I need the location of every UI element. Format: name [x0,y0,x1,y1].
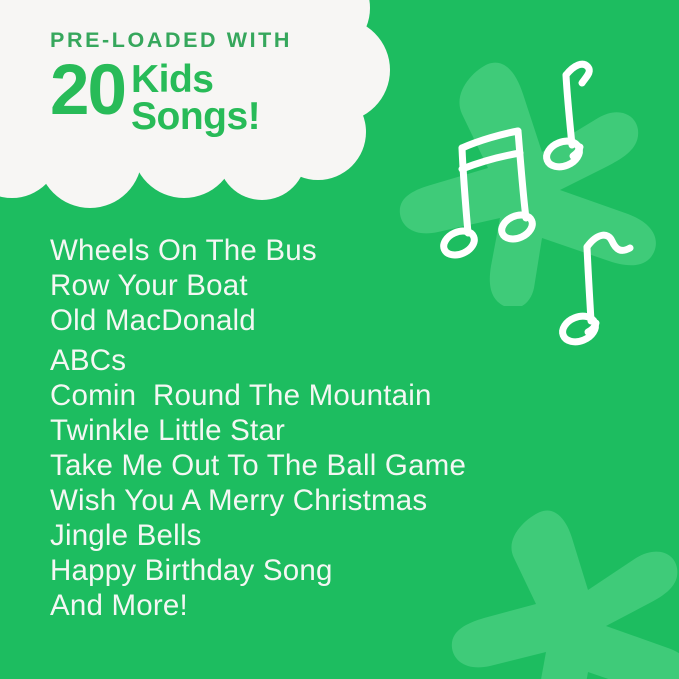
promo-poster: PRE-LOADED WITH 20 Kids Songs! [0,0,679,679]
song-list-item: Twinkle Little Star [50,413,650,448]
song-list-item: Wheels On The Bus [50,233,650,268]
song-list-item: Comin Round The Mountain [50,378,650,413]
header-block: PRE-LOADED WITH 20 Kids Songs! [50,30,350,135]
song-count: 20 [50,58,125,123]
headline-words: Kids Songs! [131,61,260,135]
song-list-item: Happy Birthday Song [50,553,650,588]
song-list-item: Take Me Out To The Ball Game [50,448,650,483]
headline-word-kids: Kids [131,61,260,98]
headline-row: 20 Kids Songs! [50,58,350,135]
preloaded-kicker: PRE-LOADED WITH [50,30,350,52]
song-list: Wheels On The BusRow Your BoatOld MacDon… [50,233,650,623]
eighth-note-top [543,64,590,171]
song-list-item: Row Your Boat [50,268,650,303]
song-list-item: Old MacDonald [50,303,650,338]
song-list-item: ABCs [50,343,650,378]
song-list-item: And More! [50,588,650,623]
headline-word-songs: Songs! [131,98,260,135]
song-list-item: Jingle Bells [50,518,650,553]
song-list-item: Wish You A Merry Christmas [50,483,650,518]
